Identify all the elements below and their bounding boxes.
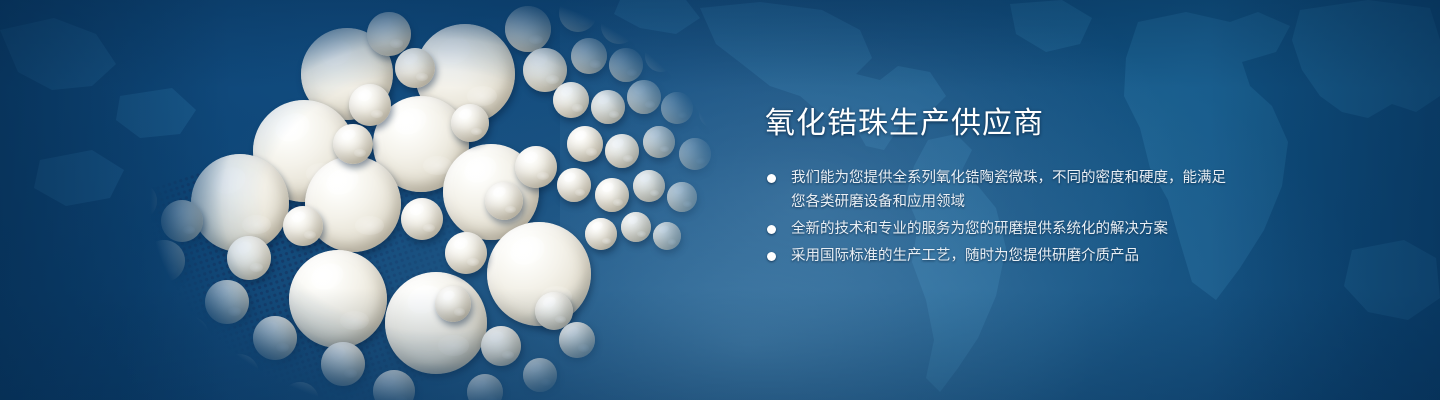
- hero-banner: 氧化锆珠生产供应商 我们能为您提供全系列氧化锆陶瓷微珠，不同的密度和硬度，能满足…: [0, 0, 1440, 400]
- zirconia-bead-photo: [105, 0, 745, 400]
- benefit-text: 我们能为您提供全系列氧化锆陶瓷微珠，不同的密度和硬度，能满足您各类研磨设备和应用…: [791, 170, 1226, 210]
- list-item: 全新的技术和专业的服务为您的研磨提供系统化的解决方案: [765, 217, 1235, 241]
- benefit-text: 采用国际标准的生产工艺，随时为您提供研磨介质产品: [791, 248, 1139, 264]
- banner-copy: 氧化锆珠生产供应商 我们能为您提供全系列氧化锆陶瓷微珠，不同的密度和硬度，能满足…: [765, 104, 1235, 271]
- bullet-dot-icon: [767, 252, 776, 261]
- bead-cluster: [105, 0, 745, 400]
- list-item: 我们能为您提供全系列氧化锆陶瓷微珠，不同的密度和硬度，能满足您各类研磨设备和应用…: [765, 166, 1235, 214]
- bullet-dot-icon: [767, 174, 776, 183]
- banner-headline: 氧化锆珠生产供应商: [765, 104, 1235, 144]
- bullet-dot-icon: [767, 225, 776, 234]
- list-item: 采用国际标准的生产工艺，随时为您提供研磨介质产品: [765, 244, 1235, 268]
- benefit-list: 我们能为您提供全系列氧化锆陶瓷微珠，不同的密度和硬度，能满足您各类研磨设备和应用…: [765, 166, 1235, 268]
- benefit-text: 全新的技术和专业的服务为您的研磨提供系统化的解决方案: [791, 221, 1168, 237]
